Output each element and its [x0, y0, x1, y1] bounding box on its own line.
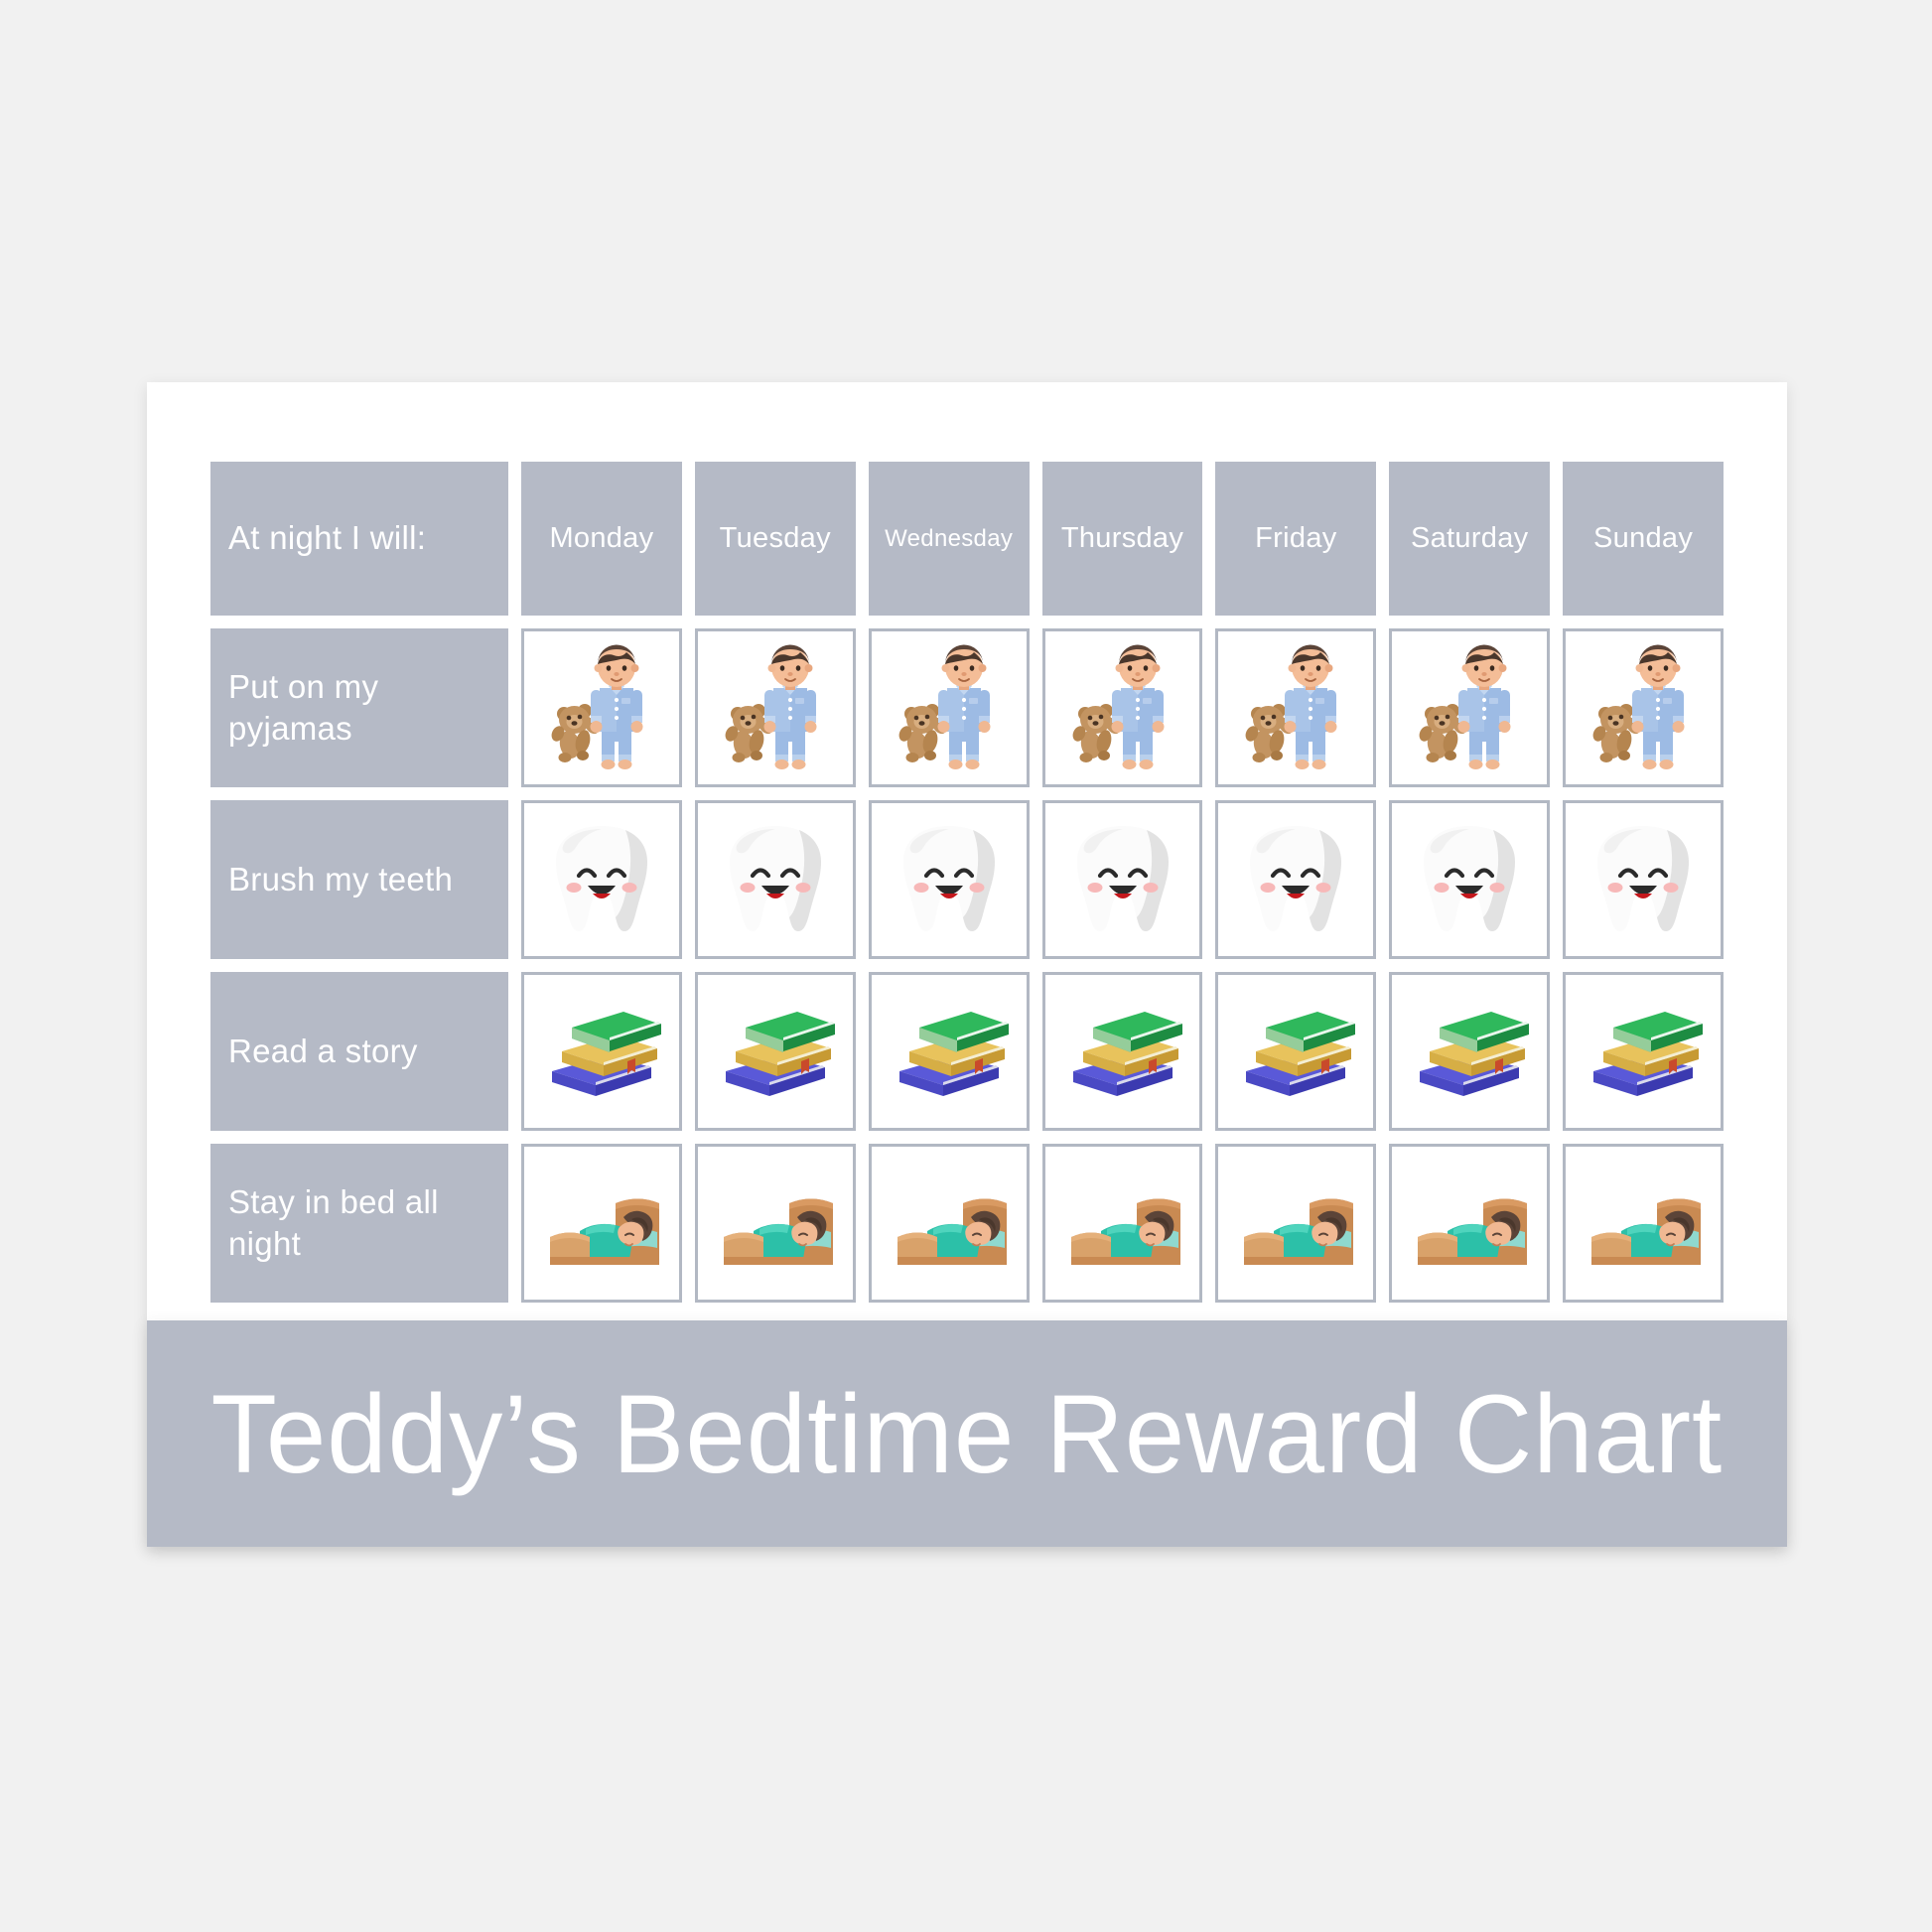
- sticker-cell[interactable]: [1389, 800, 1550, 959]
- day-header-sunday[interactable]: Sunday: [1563, 462, 1724, 616]
- day-header-label: Sunday: [1593, 522, 1693, 555]
- table-row: Read a story: [210, 972, 1724, 1131]
- boy-in-pyjamas-with-teddy-icon: [536, 642, 667, 773]
- smiling-tooth-icon: [1578, 814, 1709, 945]
- sticker-cell[interactable]: [1215, 972, 1376, 1131]
- task-label-cell: Stay in bed all night: [210, 1144, 508, 1303]
- sticker-cell[interactable]: [521, 628, 682, 787]
- task-label: Read a story: [228, 1031, 418, 1072]
- task-label-cell: Put on my pyjamas: [210, 628, 508, 787]
- stack-of-books-icon: [884, 986, 1015, 1117]
- sticker-cell[interactable]: [1389, 628, 1550, 787]
- reward-chart-page: At night I will: Monday Tuesday Wednesda…: [0, 0, 1932, 1932]
- boy-in-pyjamas-with-teddy-icon: [884, 642, 1015, 773]
- sticker-cell[interactable]: [869, 800, 1030, 959]
- sticker-cell[interactable]: [1389, 1144, 1550, 1303]
- table-row: Brush my teeth: [210, 800, 1724, 959]
- sticker-cell[interactable]: [521, 800, 682, 959]
- child-sleeping-in-bed-icon: [1230, 1158, 1361, 1289]
- child-sleeping-in-bed-icon: [884, 1158, 1015, 1289]
- sticker-cell[interactable]: [1389, 972, 1550, 1131]
- task-label: Brush my teeth: [228, 859, 453, 900]
- stack-of-books-icon: [1230, 986, 1361, 1117]
- sticker-cell[interactable]: [695, 800, 856, 959]
- day-header-monday[interactable]: Monday: [521, 462, 682, 616]
- stack-of-books-icon: [1404, 986, 1535, 1117]
- sticker-cell[interactable]: [1215, 800, 1376, 959]
- smiling-tooth-icon: [1057, 814, 1188, 945]
- chart-title-banner: Teddy’s Bedtime Reward Chart: [147, 1320, 1787, 1547]
- child-sleeping-in-bed-icon: [710, 1158, 841, 1289]
- boy-in-pyjamas-with-teddy-icon: [1230, 642, 1361, 773]
- sticker-cell[interactable]: [1563, 1144, 1724, 1303]
- stack-of-books-icon: [1578, 986, 1709, 1117]
- sticker-cell[interactable]: [869, 1144, 1030, 1303]
- sticker-cell[interactable]: [521, 972, 682, 1131]
- task-label-cell: Read a story: [210, 972, 508, 1131]
- sticker-cell[interactable]: [869, 628, 1030, 787]
- sticker-cell[interactable]: [1215, 628, 1376, 787]
- stack-of-books-icon: [710, 986, 841, 1117]
- smiling-tooth-icon: [1404, 814, 1535, 945]
- day-header-friday[interactable]: Friday: [1215, 462, 1376, 616]
- boy-in-pyjamas-with-teddy-icon: [1578, 642, 1709, 773]
- boy-in-pyjamas-with-teddy-icon: [1404, 642, 1535, 773]
- day-header-wednesday[interactable]: Wednesday: [869, 462, 1030, 616]
- day-header-label: Saturday: [1411, 522, 1528, 555]
- day-header-thursday[interactable]: Thursday: [1042, 462, 1203, 616]
- day-header-label: Tuesday: [720, 522, 831, 555]
- smiling-tooth-icon: [884, 814, 1015, 945]
- sticker-cell[interactable]: [695, 628, 856, 787]
- chart-grid: At night I will: Monday Tuesday Wednesda…: [210, 462, 1724, 1303]
- stack-of-books-icon: [1057, 986, 1188, 1117]
- sticker-cell[interactable]: [1563, 972, 1724, 1131]
- sticker-cell[interactable]: [1563, 628, 1724, 787]
- smiling-tooth-icon: [1230, 814, 1361, 945]
- day-header-label: Wednesday: [885, 525, 1013, 553]
- day-header-label: Thursday: [1061, 522, 1183, 555]
- sticker-cell[interactable]: [695, 972, 856, 1131]
- task-rows-container: Put on my pyjamas: [210, 628, 1724, 1303]
- sticker-cell[interactable]: [1042, 1144, 1203, 1303]
- task-label: Stay in bed all night: [228, 1181, 490, 1265]
- table-row: Stay in bed all night: [210, 1144, 1724, 1303]
- table-header-row: At night I will: Monday Tuesday Wednesda…: [210, 462, 1724, 616]
- corner-header-cell: At night I will:: [210, 462, 508, 616]
- task-label: Put on my pyjamas: [228, 666, 490, 750]
- sticker-cell[interactable]: [1563, 800, 1724, 959]
- smiling-tooth-icon: [536, 814, 667, 945]
- corner-header-label: At night I will:: [228, 517, 426, 559]
- day-header-label: Monday: [549, 522, 653, 555]
- day-header-tuesday[interactable]: Tuesday: [695, 462, 856, 616]
- child-sleeping-in-bed-icon: [1578, 1158, 1709, 1289]
- sticker-cell[interactable]: [1042, 628, 1203, 787]
- page-title: Teddy’s Bedtime Reward Chart: [211, 1370, 1724, 1498]
- day-header-label: Friday: [1255, 522, 1336, 555]
- boy-in-pyjamas-with-teddy-icon: [710, 642, 841, 773]
- stack-of-books-icon: [536, 986, 667, 1117]
- sticker-cell[interactable]: [695, 1144, 856, 1303]
- task-label-cell: Brush my teeth: [210, 800, 508, 959]
- sticker-cell[interactable]: [521, 1144, 682, 1303]
- day-header-saturday[interactable]: Saturday: [1389, 462, 1550, 616]
- sticker-cell[interactable]: [1215, 1144, 1376, 1303]
- sticker-cell[interactable]: [1042, 800, 1203, 959]
- child-sleeping-in-bed-icon: [1057, 1158, 1188, 1289]
- child-sleeping-in-bed-icon: [536, 1158, 667, 1289]
- table-row: Put on my pyjamas: [210, 628, 1724, 787]
- smiling-tooth-icon: [710, 814, 841, 945]
- child-sleeping-in-bed-icon: [1404, 1158, 1535, 1289]
- sticker-cell[interactable]: [1042, 972, 1203, 1131]
- sticker-cell[interactable]: [869, 972, 1030, 1131]
- boy-in-pyjamas-with-teddy-icon: [1057, 642, 1188, 773]
